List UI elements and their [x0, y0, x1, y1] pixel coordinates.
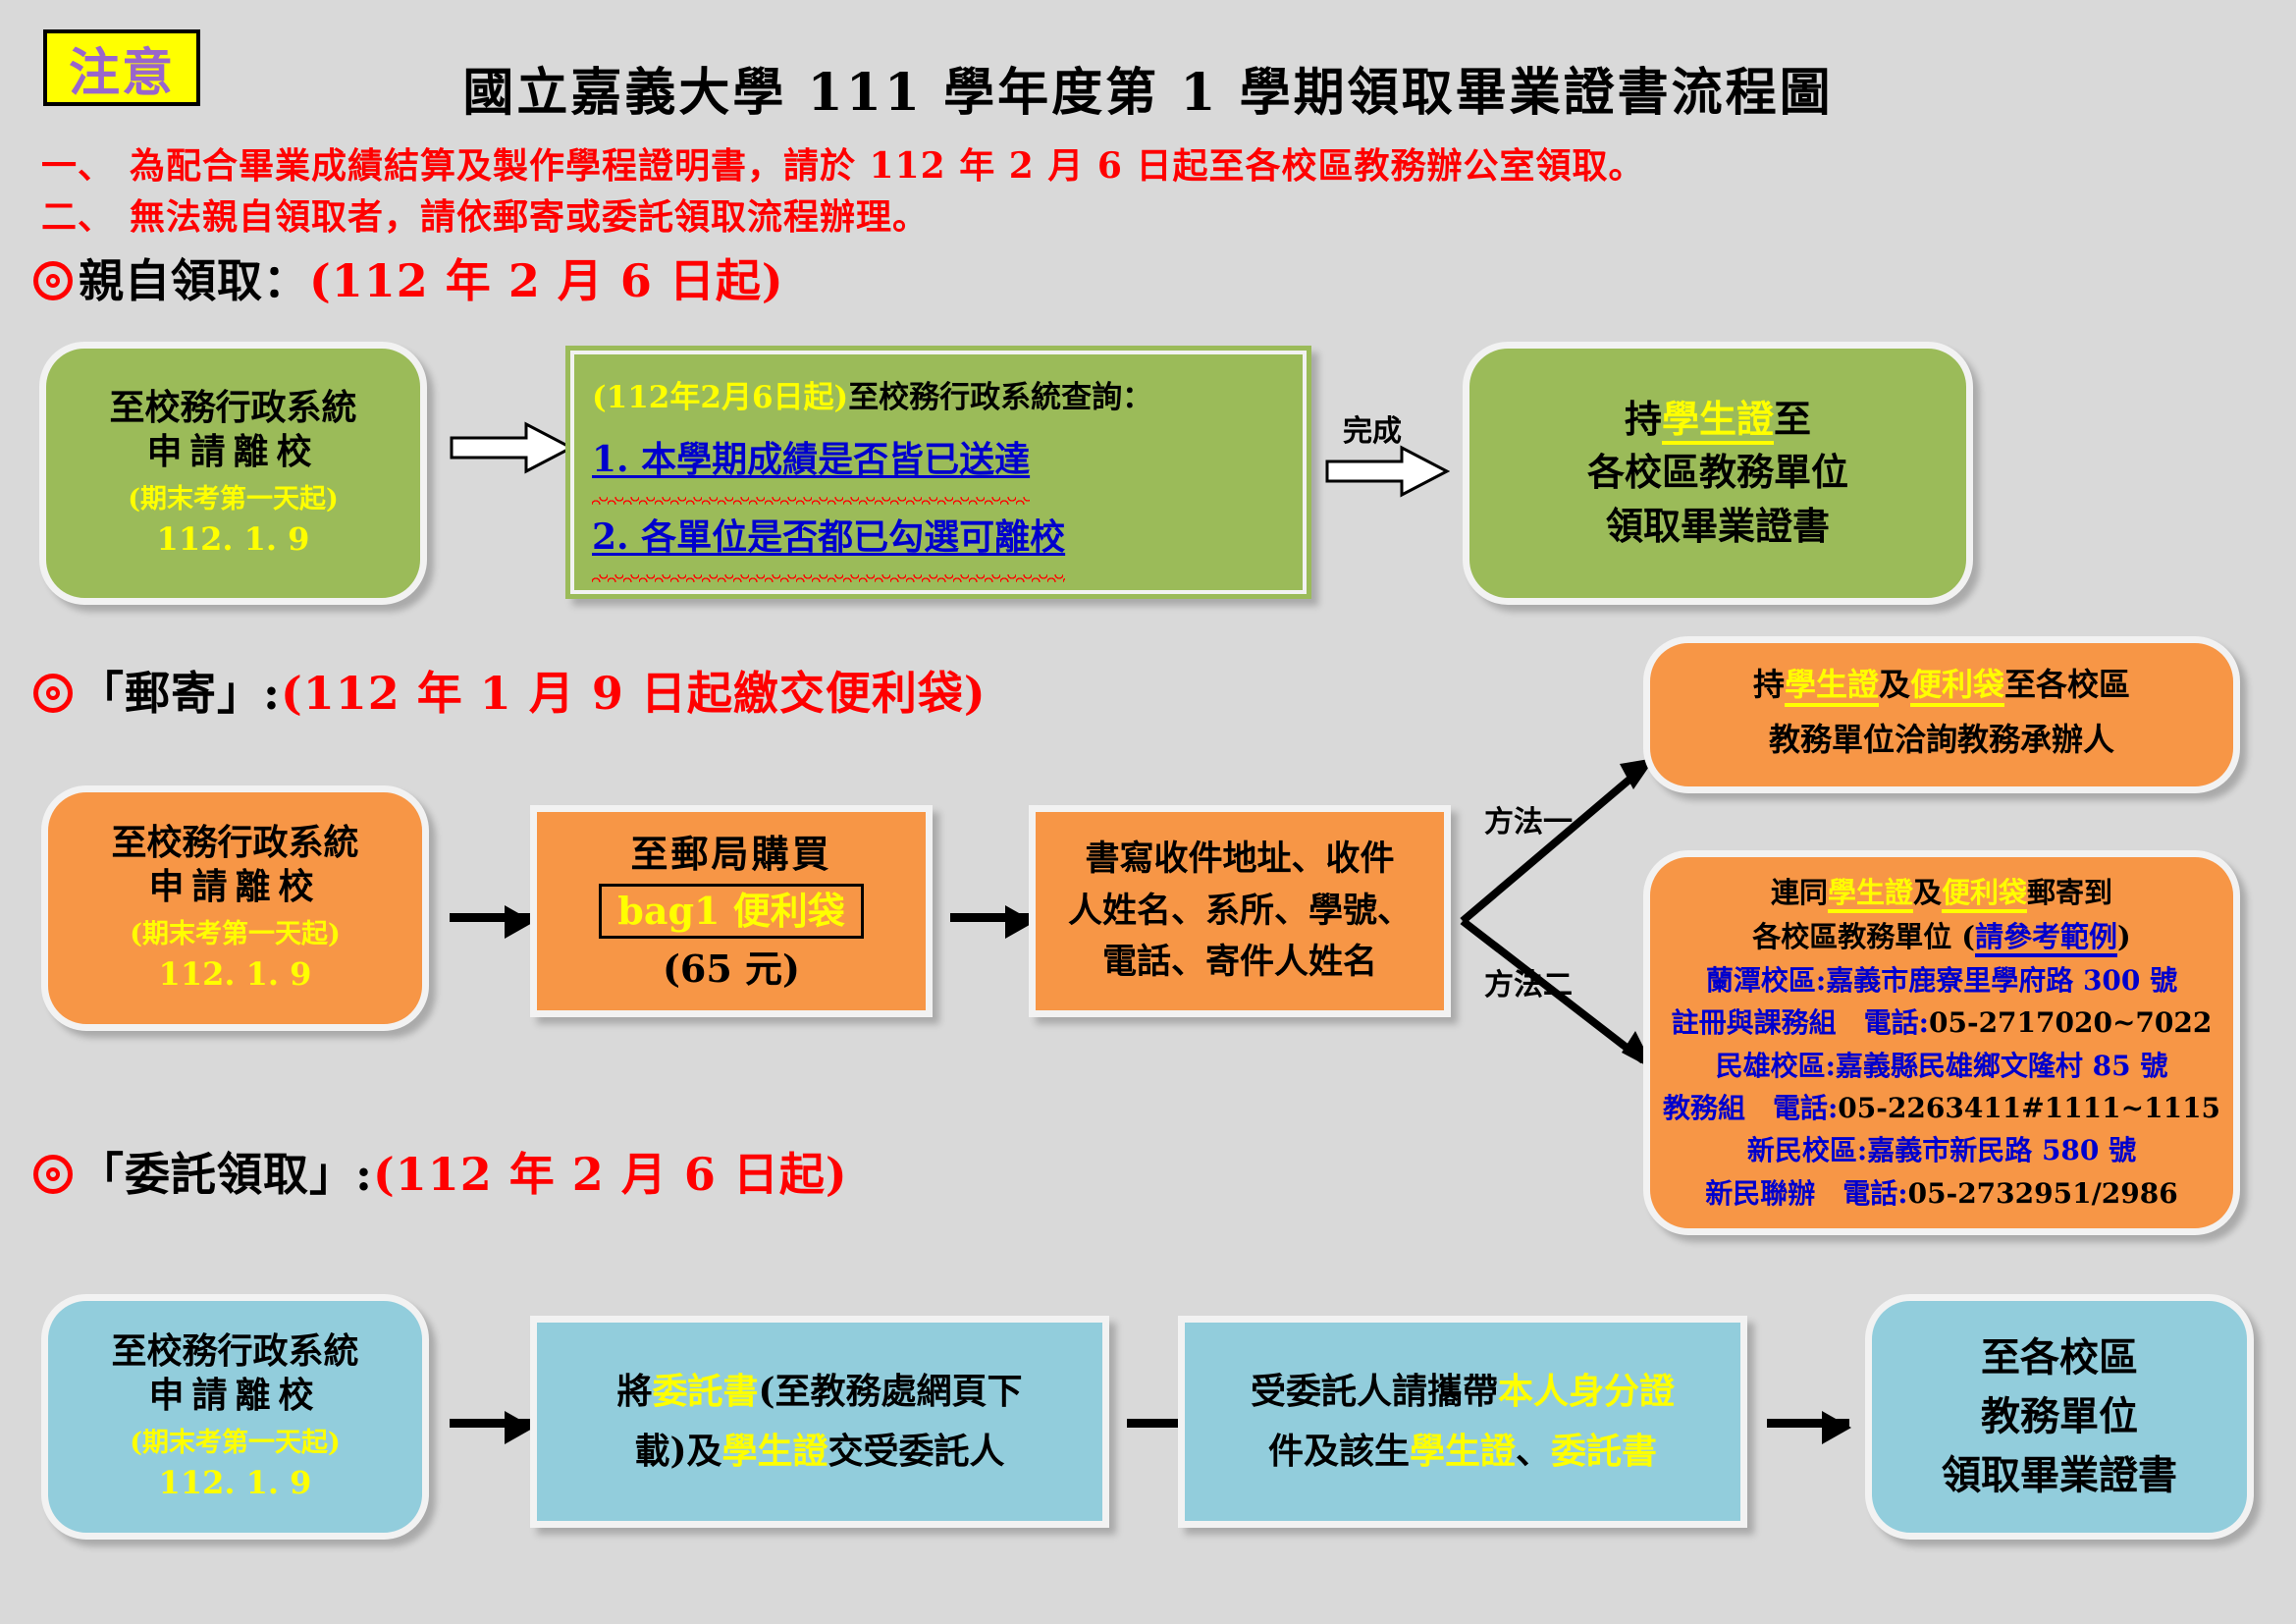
p3-b: 件及該生 — [1268, 1431, 1410, 1472]
inperson-step1-box[interactable]: 至校務行政系統 申請離校 (期末考第一天起) 112. 1. 9 — [39, 342, 427, 605]
inperson-step1-line2: 申請離校 — [146, 430, 319, 474]
p2-student-id: 學生證 — [722, 1431, 828, 1472]
campus-minxiong-address: 民雄校區:嘉義縣民雄鄉文隆村 85 號 — [1716, 1045, 2168, 1087]
notice-line-2: 二、無法親自領取者，請依郵寄或委託領取流程辦理。 — [41, 189, 929, 240]
section-heading-inperson-label: 親自領取： — [79, 254, 309, 307]
double-circle-icon — [33, 1155, 73, 1194]
p2-d: 交受委託人 — [828, 1431, 1005, 1472]
section-heading-inperson: 親自領取：(112 年 2 月 6 日起) — [33, 245, 784, 310]
xinmin-office: 新民聯辦 電話: — [1705, 1177, 1907, 1210]
section-heading-mail: 「郵寄」:(112 年 1 月 9 日起繳交便利袋) — [33, 658, 987, 723]
proxy-step1-line3: (期末考第一天起) — [130, 1424, 341, 1464]
page-title: 國立嘉義大學 111 學年度第 1 學期領取畢業證書流程圖 — [0, 51, 2296, 125]
section-heading-proxy-label: 「委託領取」: — [79, 1148, 373, 1201]
mail-step3-line3: 電話、寄件人姓名 — [1102, 937, 1377, 989]
xinmin-phone: 05-2732951/2986 — [1908, 1177, 2178, 1210]
arrow-mail-2 — [950, 913, 1033, 922]
inperson-step3-line2: 各校區教務單位 — [1587, 445, 1848, 499]
lantan-office: 註冊與課務組 電話: — [1672, 1006, 1929, 1039]
m1-a: 持 — [1753, 666, 1785, 703]
proxy-step2-box[interactable]: 將委託書(至教務處網頁下 載)及學生證交受委託人 — [530, 1316, 1109, 1528]
inperson-step2-sys: 至校務行政系統查詢： — [848, 380, 1152, 415]
notice-text-1: 為配合畢業成績結算及製作學程證明書，請於 112 年 2 月 6 日起至各校區教… — [130, 145, 1644, 187]
p2-a: 將 — [616, 1371, 652, 1412]
m1-student-id: 學生證 — [1785, 666, 1879, 707]
proxy-step3-line2: 件及該生學生證、委託書 — [1268, 1422, 1657, 1482]
inperson-step3-l1a: 持 — [1625, 397, 1662, 441]
m2-a: 連同 — [1771, 876, 1828, 909]
p3-a: 受委託人請攜帶 — [1251, 1371, 1498, 1412]
p3-c: 、 — [1516, 1431, 1551, 1472]
inperson-step2-line1: (112年2月6日起)至校務行政系統查詢： — [592, 376, 1285, 420]
proxy-step4-box[interactable]: 至各校區 教務單位 領取畢業證書 — [1865, 1294, 2254, 1540]
campus-minxiong-contact: 教務組 電話:05-2263411#1111~1115 — [1663, 1087, 2220, 1129]
arrow-inperson-1 — [450, 420, 575, 475]
mail-step2-box[interactable]: 至郵局購買 bag1 便利袋 (65 元) — [530, 805, 933, 1017]
branch-label-method1: 方法一 — [1484, 797, 1573, 840]
mail-method1-line1: 持學生證及便利袋至各校區 — [1753, 660, 2130, 710]
inperson-step3-box[interactable]: 持學生證至 各校區教務單位 領取畢業證書 — [1463, 342, 1973, 605]
mail-step3-box[interactable]: 書寫收件地址、收件 人姓名、系所、學號、 電話、寄件人姓名 — [1029, 805, 1451, 1017]
arrow-proxy-3 — [1767, 1419, 1849, 1428]
mail-step1-line3: (期末考第一天起) — [130, 915, 341, 955]
section-heading-proxy: 「委託領取」:(112 年 2 月 6 日起) — [33, 1139, 848, 1204]
m1-bag: 便利袋 — [1910, 666, 2004, 707]
mail-example-link[interactable]: 請參考範例 — [1975, 920, 2117, 957]
inperson-step2-item1[interactable]: 1. 本學期成績是否皆已送達 — [592, 429, 1030, 491]
branch-label-method2: 方法二 — [1484, 960, 1573, 1003]
section-heading-mail-date: (112 年 1 月 9 日起繳交便利袋) — [281, 667, 987, 720]
campus-lantan-address: 蘭潭校區:嘉義市鹿寮里學府路 300 號 — [1706, 959, 2177, 1001]
proxy-step3-box[interactable]: 受委託人請攜帶本人身分證 件及該生學生證、委託書 — [1178, 1316, 1747, 1528]
arrow-proxy-1 — [450, 1419, 532, 1428]
mail-step2-bag-badge: bag1 便利袋 — [599, 884, 863, 939]
inperson-step3-student-id: 學生證 — [1662, 397, 1774, 445]
arrow-mail-1 — [450, 913, 532, 922]
mail-method1-line2: 教務單位洽詢教務承辦人 — [1769, 710, 2114, 770]
mail-step1-date: 112. 1. 9 — [159, 954, 312, 996]
double-circle-icon — [33, 674, 73, 713]
mail-step2-price: (65 元) — [663, 947, 800, 992]
m2-b: 及 — [1913, 876, 1942, 909]
mail-step3-line2: 人姓名、系所、學號、 — [1068, 886, 1412, 938]
arrow-inperson-2 — [1325, 444, 1451, 499]
inperson-step1-line1: 至校務行政系統 — [109, 386, 356, 430]
section-heading-mail-label: 「郵寄」: — [79, 667, 281, 720]
p2-proxy-form: 委託書 — [652, 1371, 758, 1412]
proxy-step3-line1: 受委託人請攜帶本人身分證 — [1251, 1362, 1675, 1422]
section-heading-inperson-date: (112 年 2 月 6 日起) — [309, 254, 784, 307]
inperson-step3-line1: 持學生證至 — [1625, 394, 1811, 444]
inperson-step2-item2[interactable]: 2. 各單位是否都已勾選可離校 — [592, 507, 1065, 568]
section-heading-proxy-date: (112 年 2 月 6 日起) — [373, 1148, 848, 1201]
mail-step2-line1: 至郵局購買 — [630, 832, 831, 877]
inperson-step1-line3: (期末考第一天起) — [128, 480, 339, 520]
notice-text-2: 無法親自領取者，請依郵寄或委託領取流程辦理。 — [130, 196, 929, 238]
campus-xinmin-contact: 新民聯辦 電話:05-2732951/2986 — [1705, 1172, 2177, 1215]
mail-method2-line1: 連同學生證及便利袋郵寄到 — [1771, 871, 2112, 915]
mail-method2-line2: 各校區教務單位 (請參考範例) — [1752, 915, 2131, 959]
mail-method2-box[interactable]: 連同學生證及便利袋郵寄到 各校區教務單位 (請參考範例) 蘭潭校區:嘉義市鹿寮里… — [1643, 850, 2240, 1235]
m2-l2b: ) — [2117, 920, 2131, 953]
proxy-step1-line2: 申請離校 — [148, 1374, 321, 1418]
inperson-step2-box[interactable]: (112年2月6日起)至校務行政系統查詢： 1. 本學期成績是否皆已送達 2. … — [565, 346, 1311, 599]
campus-xinmin-address: 新民校區:嘉義市新民路 580 號 — [1747, 1129, 2136, 1171]
p2-b: (至教務處網頁下 — [758, 1371, 1022, 1412]
p3-id-card: 本人身分證 — [1498, 1371, 1675, 1412]
inperson-step3-l1b: 至 — [1774, 397, 1811, 441]
proxy-step1-date: 112. 1. 9 — [159, 1463, 312, 1504]
notice-number-2: 二、 — [41, 189, 130, 240]
p3-proxy-form: 委託書 — [1551, 1431, 1657, 1472]
mail-step3-line1: 書寫收件地址、收件 — [1085, 834, 1394, 886]
m2-c: 郵寄到 — [2027, 876, 2112, 909]
proxy-step4-line1: 至各校區 — [1981, 1328, 2138, 1387]
mail-step1-box[interactable]: 至校務行政系統 申請離校 (期末考第一天起) 112. 1. 9 — [41, 785, 429, 1031]
proxy-step1-box[interactable]: 至校務行政系統 申請離校 (期末考第一天起) 112. 1. 9 — [41, 1294, 429, 1540]
lantan-phone: 05-2717020~7022 — [1929, 1006, 2212, 1039]
proxy-step4-line2: 教務單位 — [1981, 1387, 2138, 1446]
notice-line-1: 一、為配合畢業成績結算及製作學程證明書，請於 112 年 2 月 6 日起至各校… — [41, 137, 1644, 189]
inperson-step1-date: 112. 1. 9 — [157, 519, 310, 561]
proxy-step1-line1: 至校務行政系統 — [111, 1329, 358, 1374]
minxiong-phone: 05-2263411#1111~1115 — [1838, 1092, 2220, 1124]
m2-student-id: 學生證 — [1828, 876, 1913, 913]
campus-lantan-contact: 註冊與課務組 電話:05-2717020~7022 — [1672, 1001, 2213, 1044]
mail-step1-line1: 至校務行政系統 — [111, 821, 358, 865]
inperson-step2-date: (112年2月6日起) — [592, 380, 848, 415]
mail-step1-line2: 申請離校 — [148, 865, 321, 909]
inperson-step3-line3: 領取畢業證書 — [1606, 499, 1830, 553]
m1-b: 及 — [1879, 666, 1910, 703]
double-circle-icon — [33, 261, 73, 300]
p2-c: 載)及 — [634, 1431, 721, 1472]
proxy-step2-line2: 載)及學生證交受委託人 — [634, 1422, 1004, 1482]
p3-student-id: 學生證 — [1410, 1431, 1516, 1472]
notice-number-1: 一、 — [41, 137, 130, 189]
proxy-step2-line1: 將委託書(至教務處網頁下 — [616, 1362, 1022, 1422]
m2-l2a: 各校區教務單位 ( — [1752, 920, 1975, 953]
minxiong-office: 教務組 電話: — [1663, 1092, 1838, 1124]
proxy-step4-line3: 領取畢業證書 — [1942, 1446, 2177, 1505]
m1-c: 至各校區 — [2004, 666, 2130, 703]
m2-bag: 便利袋 — [1942, 876, 2027, 913]
mail-method1-box[interactable]: 持學生證及便利袋至各校區 教務單位洽詢教務承辦人 — [1643, 636, 2240, 793]
